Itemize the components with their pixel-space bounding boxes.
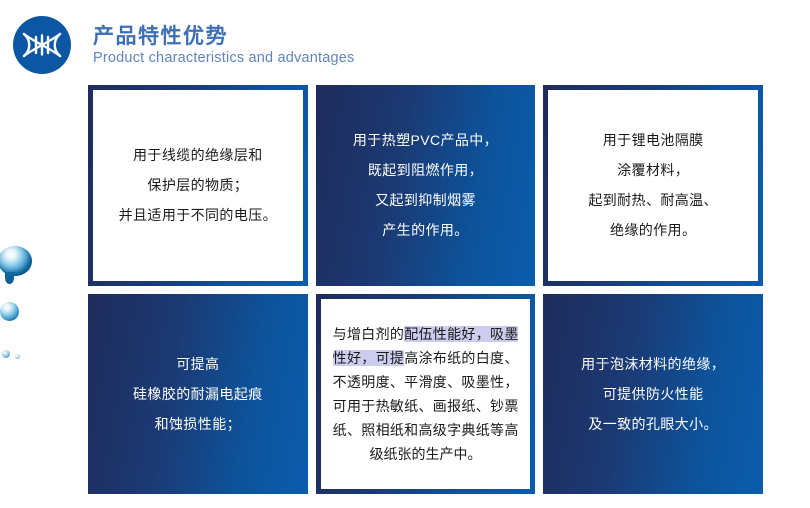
plain-text-run: 与增白剂的 — [333, 326, 405, 342]
feature-text-line: 用于线缆的绝缘层和 — [119, 140, 277, 170]
feature-text: 用于线缆的绝缘层和保护层的物质；并且适用于不同的电压。 — [119, 140, 277, 230]
feature-text: 用于热塑PVC产品中，既起到阻燃作用，又起到抑制烟雾产生的作用。 — [353, 125, 498, 245]
feature-text-line: 涂覆材料， — [588, 155, 718, 185]
feature-card-inner: 用于泡沫材料的绝缘，可提供防火性能及一致的孔眼大小。 — [548, 299, 758, 490]
feature-text-line: 并且适用于不同的电压。 — [119, 200, 277, 230]
plain-text-run: 高涂布纸的白度、不透明度、平滑度、吸墨性，可用于热敏纸、画报纸、钞票纸、照相纸和… — [333, 350, 519, 462]
feature-card-inner: 用于锂电池隔膜涂覆材料，起到耐热、耐高温、绝缘的作用。 — [548, 90, 758, 281]
feature-text: 与增白剂的配伍性能好，吸墨性好，可提高涂布纸的白度、不透明度、平滑度、吸墨性，可… — [333, 322, 519, 466]
water-bubble-decoration — [0, 238, 46, 378]
feature-text-line: 及一致的孔眼大小。 — [581, 409, 725, 439]
feature-cell-silicone-rubber: 可提高硅橡胶的耐漏电起痕和蚀损性能； — [88, 294, 308, 495]
bubble-medium-icon — [0, 302, 19, 321]
bubble-small-icon — [2, 350, 10, 358]
header-text-block: 产品特性优势 Product characteristics and advan… — [93, 24, 355, 67]
feature-text-line: 起到耐热、耐高温、 — [588, 185, 718, 215]
feature-cell-paper-coating: 与增白剂的配伍性能好，吸墨性好，可提高涂布纸的白度、不透明度、平滑度、吸墨性，可… — [316, 294, 536, 495]
feature-text-line: 既起到阻燃作用， — [353, 155, 498, 185]
feature-card-inner: 与增白剂的配伍性能好，吸墨性好，可提高涂布纸的白度、不透明度、平滑度、吸墨性，可… — [321, 299, 531, 490]
feature-cell-battery-separator: 用于锂电池隔膜涂覆材料，起到耐热、耐高温、绝缘的作用。 — [543, 85, 763, 286]
feature-text-line: 用于泡沫材料的绝缘， — [581, 349, 725, 379]
feature-text: 可提高硅橡胶的耐漏电起痕和蚀损性能； — [133, 349, 263, 439]
page-subtitle: Product characteristics and advantages — [93, 50, 355, 67]
bubble-large-icon — [0, 246, 32, 276]
feature-text-line: 保护层的物质； — [119, 170, 277, 200]
feature-card-inner: 用于热塑PVC产品中，既起到阻燃作用，又起到抑制烟雾产生的作用。 — [321, 90, 531, 281]
feature-card-inner: 用于线缆的绝缘层和保护层的物质；并且适用于不同的电压。 — [93, 90, 303, 281]
feature-text-line: 产生的作用。 — [353, 215, 498, 245]
feature-text-line: 可提供防火性能 — [581, 379, 725, 409]
feature-text: 用于锂电池隔膜涂覆材料，起到耐热、耐高温、绝缘的作用。 — [588, 125, 718, 245]
feature-card-inner: 可提高硅橡胶的耐漏电起痕和蚀损性能； — [93, 299, 303, 490]
feature-text-line: 可提高 — [133, 349, 263, 379]
feature-grid: 用于线缆的绝缘层和保护层的物质；并且适用于不同的电压。 用于热塑PVC产品中，既… — [88, 85, 763, 494]
feature-cell-pvc-flame-retardant: 用于热塑PVC产品中，既起到阻燃作用，又起到抑制烟雾产生的作用。 — [316, 85, 536, 286]
bubble-tiny-icon — [15, 354, 20, 359]
feature-text-line: 又起到抑制烟雾 — [353, 185, 498, 215]
feature-text-line: 硅橡胶的耐漏电起痕 — [133, 379, 263, 409]
feature-cell-cable-insulation: 用于线缆的绝缘层和保护层的物质；并且适用于不同的电压。 — [88, 85, 308, 286]
feature-cell-foam-insulation: 用于泡沫材料的绝缘，可提供防火性能及一致的孔眼大小。 — [543, 294, 763, 495]
feature-text: 用于泡沫材料的绝缘，可提供防火性能及一致的孔眼大小。 — [581, 349, 725, 439]
dna-helix-icon — [13, 16, 71, 74]
feature-text-line: 绝缘的作用。 — [588, 215, 718, 245]
feature-text-line: 用于锂电池隔膜 — [588, 125, 718, 155]
page-title: 产品特性优势 — [93, 24, 355, 49]
feature-text-line: 用于热塑PVC产品中， — [353, 125, 498, 155]
page-header: 产品特性优势 Product characteristics and advan… — [0, 0, 355, 90]
feature-text-line: 和蚀损性能； — [133, 409, 263, 439]
